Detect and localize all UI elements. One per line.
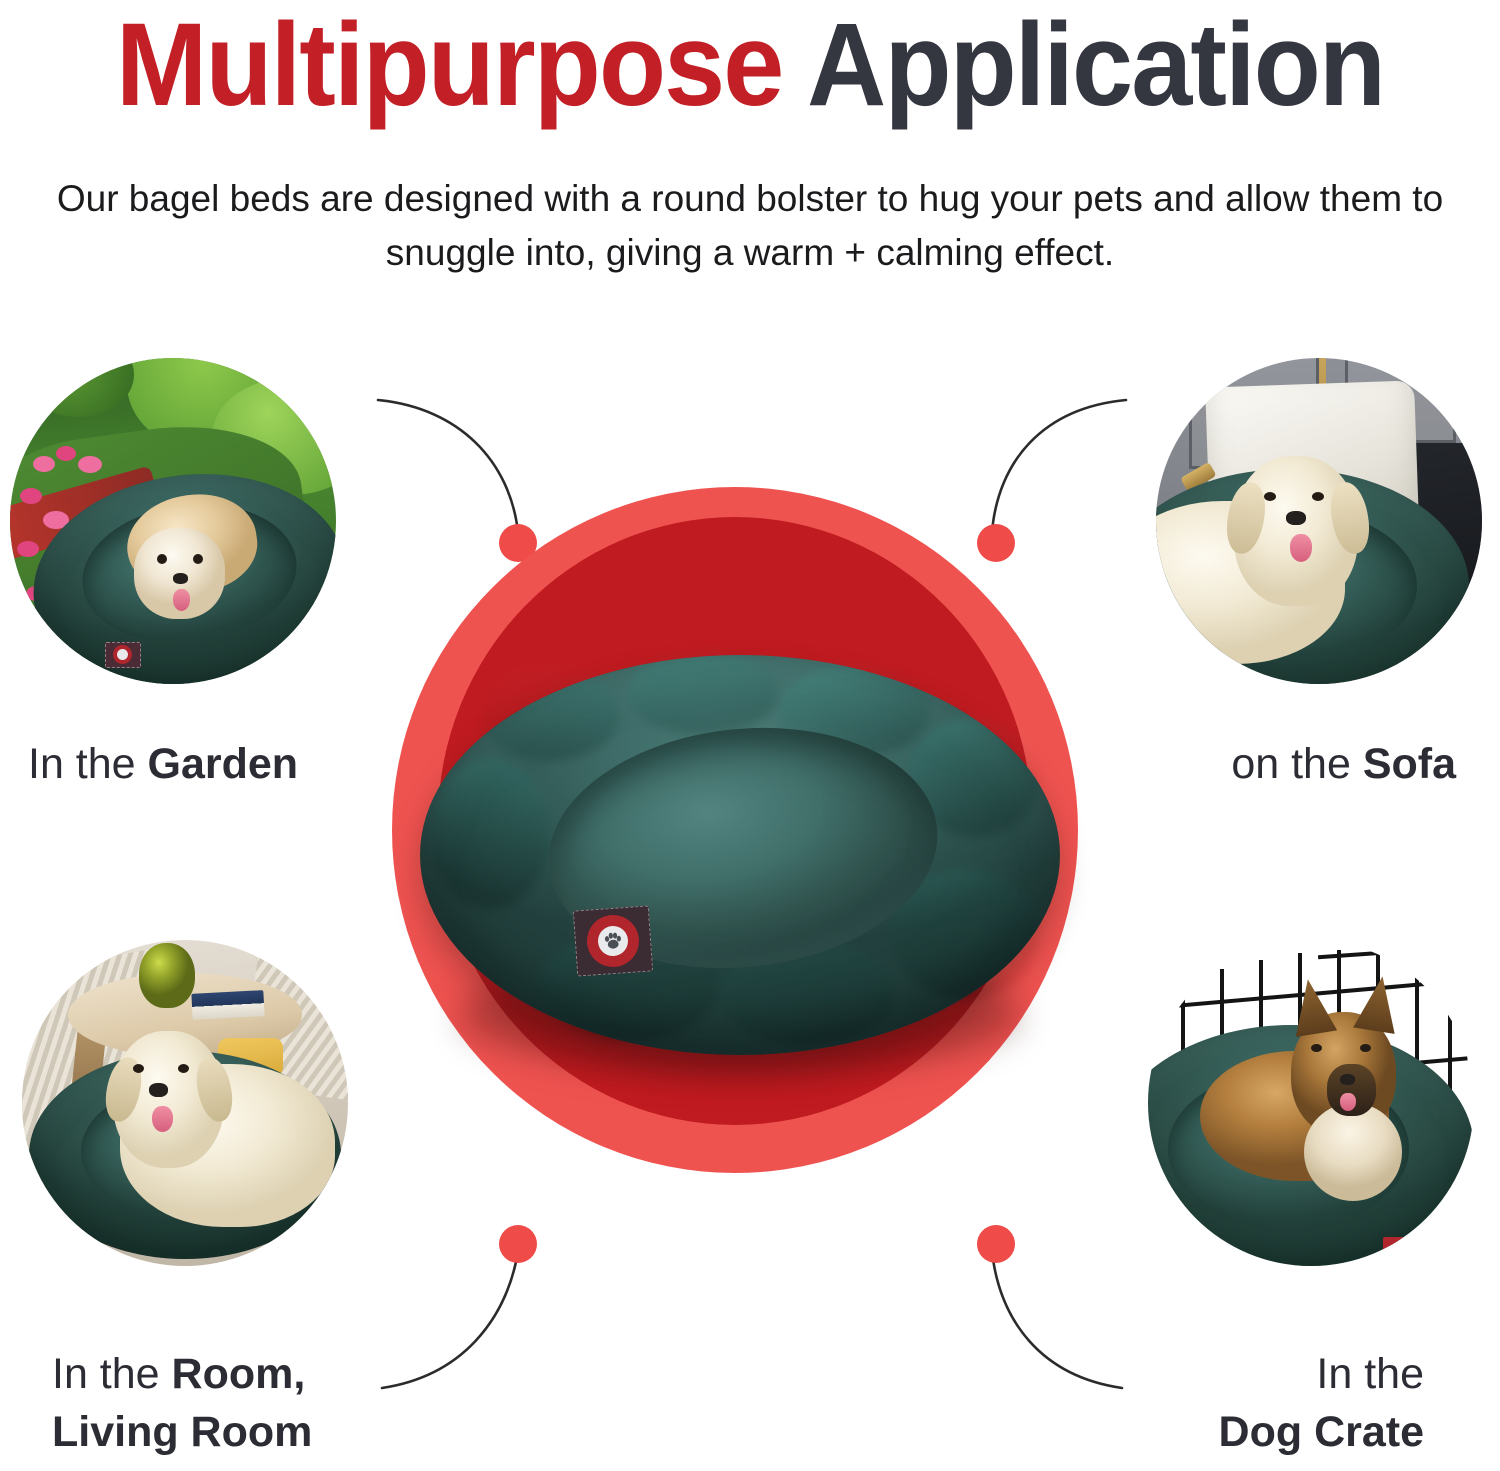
brand-badge: MAJESTIC <box>585 913 641 969</box>
caption-living-room-regular: In the <box>52 1350 172 1398</box>
callout-photo-living-room <box>22 940 348 1266</box>
caption-living-room: In the Room, Living Room <box>52 1345 312 1461</box>
product-hero: MAJESTIC <box>392 487 1078 1173</box>
scene-sofa <box>1156 358 1482 684</box>
caption-dog-crate: In the Dog Crate <box>1219 1345 1424 1461</box>
connector-line-dog-crate <box>992 1252 1122 1388</box>
subtitle-line-2: snuggle into, giving a warm + calming ef… <box>40 226 1460 280</box>
infographic-page: Multipurpose Application Our bagel beds … <box>0 0 1500 1471</box>
caption-garden-regular: In the <box>28 740 148 788</box>
callout-photo-sofa <box>1156 358 1482 684</box>
connector-line-living-room <box>382 1252 518 1388</box>
connector-dot-dog-crate <box>977 1225 1015 1263</box>
product-image-bagel-bed: MAJESTIC <box>420 655 1060 1085</box>
scene-living-room <box>22 940 348 1266</box>
caption-dog-crate-regular: In the <box>1316 1350 1424 1398</box>
callout-photo-dog-crate <box>1148 940 1474 1266</box>
subtitle-line-1: Our bagel beds are designed with a round… <box>40 172 1460 226</box>
brand-tag: MAJESTIC <box>573 905 653 976</box>
caption-sofa-regular: on the <box>1231 740 1363 788</box>
scene-garden <box>10 358 336 684</box>
paw-glyph <box>601 929 624 952</box>
callout-photo-garden <box>10 358 336 684</box>
page-title: Multipurpose Application <box>53 4 1448 126</box>
page-subtitle: Our bagel beds are designed with a round… <box>40 172 1460 280</box>
caption-living-room-bold-2: Living Room <box>52 1408 312 1456</box>
caption-sofa-bold: Sofa <box>1363 740 1456 788</box>
title-second-word: Application <box>807 0 1384 131</box>
caption-dog-crate-bold: Dog Crate <box>1219 1408 1424 1456</box>
caption-garden-bold: Garden <box>148 740 299 788</box>
paw-print-icon <box>597 925 629 957</box>
caption-sofa: on the Sofa <box>1231 735 1456 793</box>
caption-living-room-bold-1: Room, <box>172 1350 306 1398</box>
scene-dog-crate <box>1148 940 1474 1266</box>
connector-dot-living-room <box>499 1225 537 1263</box>
caption-garden: In the Garden <box>28 735 298 793</box>
title-highlight-word: Multipurpose <box>116 0 783 131</box>
